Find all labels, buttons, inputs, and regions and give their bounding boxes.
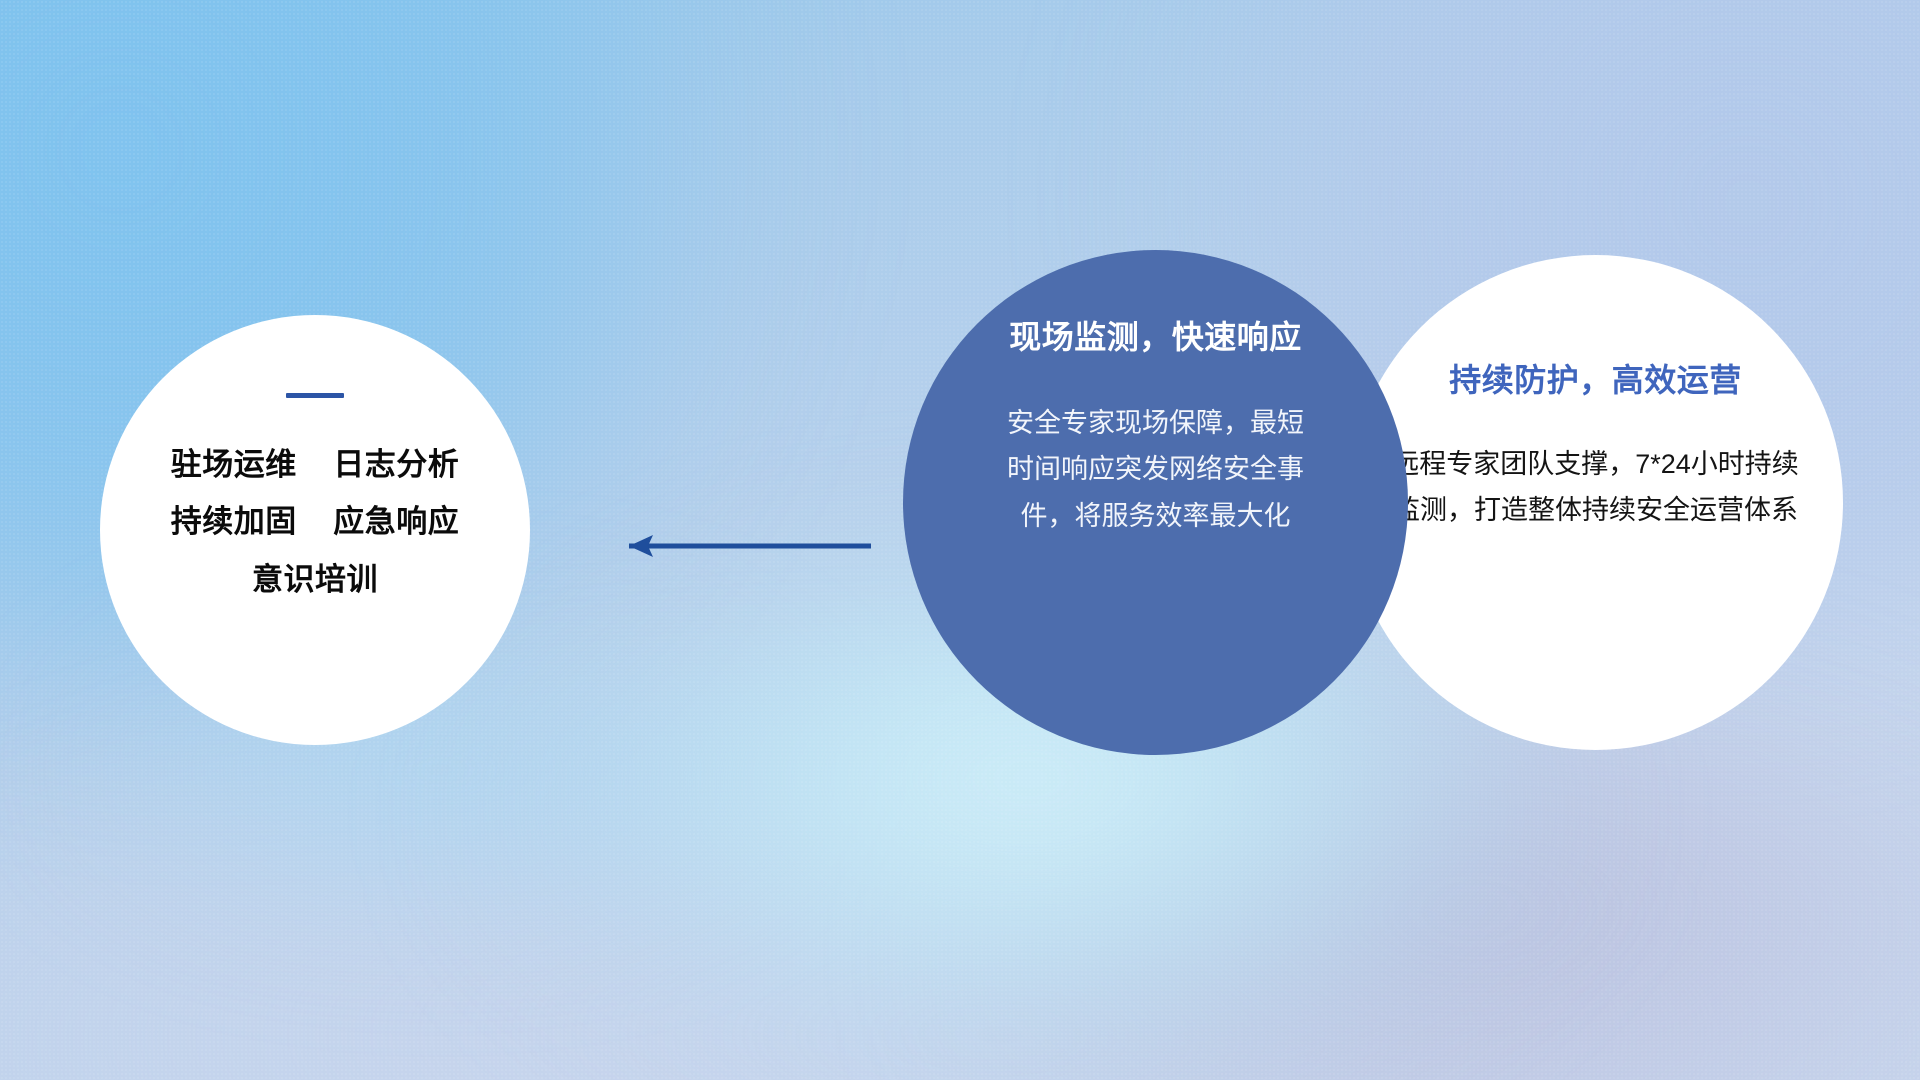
- service-keyword-list: 驻场运维 日志分析 持续加固 应急响应 意识培训: [171, 436, 459, 608]
- flow-arrow-left-icon: [605, 518, 875, 574]
- on-site-monitoring-body: 安全专家现场保障，最短时间响应突发网络安全事件，将服务效率最大化: [1006, 400, 1306, 539]
- on-site-monitoring-title: 现场监测，快速响应: [1009, 312, 1302, 358]
- continuous-protection-circle[interactable]: 持续防护，高效运营 远程专家团队支撑，7*24小时持续监测，打造整体持续安全运营…: [1348, 255, 1843, 750]
- on-site-services-circle[interactable]: 驻场运维 日志分析 持续加固 应急响应 意识培训: [100, 315, 530, 745]
- list-item: 持续加固 应急响应: [171, 493, 459, 550]
- on-site-monitoring-circle[interactable]: 现场监测，快速响应 安全专家现场保障，最短时间响应突发网络安全事件，将服务效率最…: [903, 250, 1408, 755]
- list-item: 驻场运维 日志分析: [171, 436, 459, 493]
- slide-canvas: 驻场运维 日志分析 持续加固 应急响应 意识培训 持续防护，高效运营 远程专家团…: [0, 0, 1920, 1080]
- continuous-protection-title: 持续防护，高效运营: [1449, 355, 1742, 401]
- continuous-protection-body: 远程专家团队支撑，7*24小时持续监测，打造整体持续安全运营体系: [1386, 441, 1806, 534]
- divider-dash-icon: [286, 393, 344, 398]
- list-item: 意识培训: [171, 551, 459, 608]
